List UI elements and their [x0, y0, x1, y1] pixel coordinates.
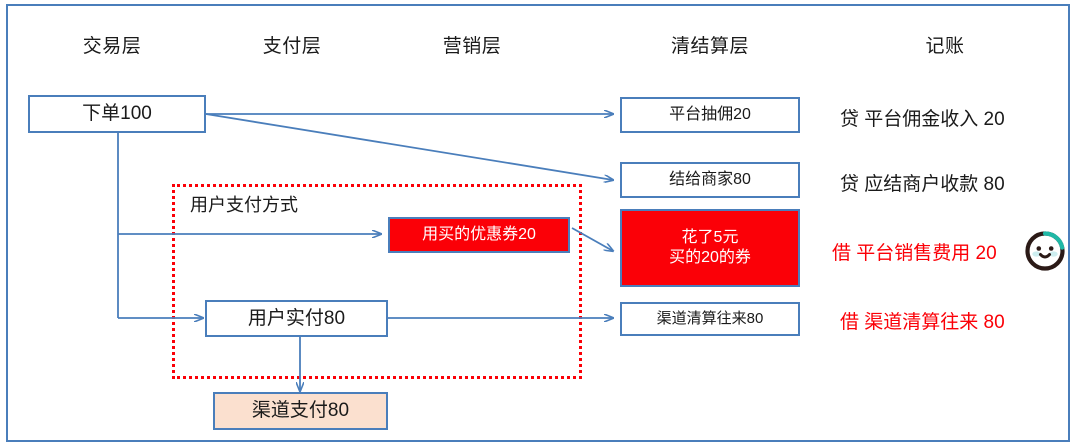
node-merchant-settle[interactable]: 结给商家80	[620, 162, 800, 198]
node-platform-fee[interactable]: 平台抽佣20	[620, 97, 800, 133]
ledger-entry-commission: 贷 平台佣金收入 20	[840, 104, 1005, 131]
diagram-canvas: 交易层 支付层 营销层 清结算层 记账 用户支付方式 下单100 平台抽佣20 …	[0, 0, 1080, 447]
ledger-entry-sales-cost: 借 平台销售费用 20	[832, 238, 997, 265]
node-channel-clearing[interactable]: 渠道清算往来80	[620, 302, 800, 336]
column-header-settlement: 清结算层	[650, 31, 770, 58]
node-coupon-cost[interactable]: 花了5元 买的20的券	[620, 209, 800, 287]
column-header-accounting: 记账	[885, 31, 1005, 58]
node-order[interactable]: 下单100	[28, 95, 206, 133]
column-header-transaction: 交易层	[52, 31, 172, 58]
group-label-user-payment-method: 用户支付方式	[190, 191, 298, 217]
edge-order-to-merchant-settle	[206, 114, 613, 180]
node-channel-pay[interactable]: 渠道支付80	[213, 392, 388, 430]
ledger-entry-merchant: 贷 应结商户收款 80	[840, 169, 1005, 196]
node-coupon-used[interactable]: 用买的优惠券20	[388, 217, 570, 253]
smiley-face-icon	[1023, 229, 1067, 273]
ledger-entry-clearing: 借 渠道清算往来 80	[840, 307, 1005, 334]
node-user-paid[interactable]: 用户实付80	[205, 300, 388, 337]
column-header-marketing: 营销层	[412, 31, 532, 58]
column-header-payment: 支付层	[232, 31, 352, 58]
